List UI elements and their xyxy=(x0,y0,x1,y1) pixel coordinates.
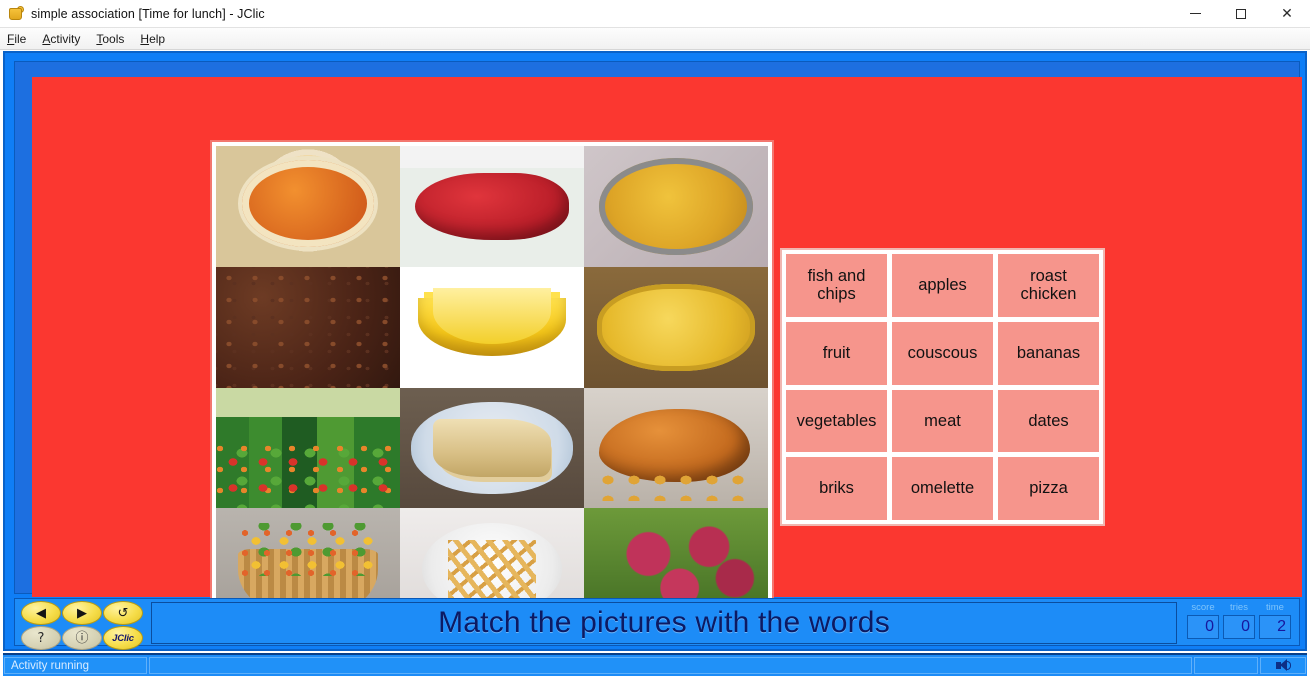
couscous-image[interactable] xyxy=(584,146,768,267)
activity-board: fish and chipsapplesroast chickenfruitco… xyxy=(32,77,1302,597)
status-extra-panel xyxy=(1194,657,1258,674)
word-cell[interactable]: omelette xyxy=(892,457,993,520)
time-value: 2 xyxy=(1277,618,1286,636)
word-cell[interactable]: apples xyxy=(892,254,993,317)
menu-item-activity[interactable]: Activity xyxy=(42,30,90,48)
vegetables-image[interactable] xyxy=(216,388,400,509)
score-counter: 0 xyxy=(1187,615,1219,639)
jclic-application-window: simple association [Time for lunch] - JC… xyxy=(0,0,1310,676)
word-cell[interactable]: pizza xyxy=(998,457,1099,520)
word-cell[interactable]: bananas xyxy=(998,322,1099,385)
time-counter: 2 xyxy=(1259,615,1291,639)
word-cell[interactable]: meat xyxy=(892,390,993,453)
info-button[interactable]: ⓘ xyxy=(62,626,102,650)
dates-image[interactable] xyxy=(216,267,400,388)
omelette-image-thumb xyxy=(584,267,768,388)
word-cell[interactable]: fruit xyxy=(786,322,887,385)
help-button[interactable]: ? xyxy=(21,626,61,650)
menu-file-label: ile xyxy=(14,32,26,46)
menu-bar: File Activity Tools Help xyxy=(0,28,1310,50)
menu-help-mnemonic: H xyxy=(140,32,149,46)
status-bar: Activity running xyxy=(3,653,1307,676)
word-cell[interactable]: couscous xyxy=(892,322,993,385)
pizza-image[interactable] xyxy=(216,146,400,267)
menu-item-file[interactable]: File xyxy=(7,30,36,48)
activity-area: fish and chipsapplesroast chickenfruitco… xyxy=(14,61,1300,594)
player-control-bar: ◀ ▶ ↺ ? ⓘ JClic Match the pictures with … xyxy=(14,598,1300,646)
word-cell[interactable]: fish and chips xyxy=(786,254,887,317)
previous-activity-button[interactable]: ◀ xyxy=(21,601,61,625)
briks-image[interactable] xyxy=(400,388,584,509)
meat-image-thumb xyxy=(400,146,584,267)
tries-counter: 0 xyxy=(1223,615,1255,639)
word-cell[interactable]: dates xyxy=(998,390,1099,453)
tries-label: tries xyxy=(1223,602,1255,613)
menu-activity-label: ctivity xyxy=(50,32,80,46)
close-button[interactable]: ✕ xyxy=(1264,0,1310,28)
window-title: simple association [Time for lunch] - JC… xyxy=(31,7,265,21)
jclic-puzzle-icon xyxy=(7,5,25,23)
activity-message: Match the pictures with the words xyxy=(438,606,890,640)
counters-panel: score 0 tries 0 time 2 xyxy=(1185,601,1297,645)
bananas-image-thumb xyxy=(400,267,584,388)
menu-item-tools[interactable]: Tools xyxy=(96,30,134,48)
previous-icon: ◀ xyxy=(36,607,46,620)
reset-icon: ↺ xyxy=(118,607,129,620)
volume-button[interactable] xyxy=(1260,657,1306,674)
word-cell[interactable]: roast chicken xyxy=(998,254,1099,317)
minimize-button[interactable] xyxy=(1172,0,1218,28)
menu-item-help[interactable]: Help xyxy=(140,30,175,48)
title-bar: simple association [Time for lunch] - JC… xyxy=(0,0,1310,28)
pizza-image-thumb xyxy=(216,146,400,267)
words-grid: fish and chipsapplesroast chickenfruitco… xyxy=(786,254,1099,520)
menu-tools-label: ools xyxy=(102,32,124,46)
omelette-image[interactable] xyxy=(584,267,768,388)
navigation-buttons: ◀ ▶ ↺ ? ⓘ JClic xyxy=(19,601,145,646)
meat-image[interactable] xyxy=(400,146,584,267)
reset-activity-button[interactable]: ↺ xyxy=(103,601,143,625)
window-controls: ✕ xyxy=(1172,0,1310,28)
activity-message-box: Match the pictures with the words xyxy=(151,602,1177,644)
bananas-image[interactable] xyxy=(400,267,584,388)
maximize-button[interactable] xyxy=(1218,0,1264,28)
roast-chicken-image-thumb xyxy=(584,388,768,509)
jclic-player-frame: fish and chipsapplesroast chickenfruitco… xyxy=(3,51,1307,651)
status-message: Activity running xyxy=(11,660,89,672)
next-activity-button[interactable]: ▶ xyxy=(62,601,102,625)
pictures-panel xyxy=(210,140,774,635)
next-icon: ▶ xyxy=(77,607,87,620)
word-cell[interactable]: vegetables xyxy=(786,390,887,453)
time-label: time xyxy=(1259,602,1291,613)
words-panel: fish and chipsapplesroast chickenfruitco… xyxy=(780,248,1105,526)
roast-chicken-image[interactable] xyxy=(584,388,768,509)
speaker-icon xyxy=(1276,659,1291,672)
jclic-logo-text: JClic xyxy=(112,633,134,644)
info-icon: ⓘ xyxy=(75,632,88,645)
score-label: score xyxy=(1187,602,1219,613)
word-cell[interactable]: briks xyxy=(786,457,887,520)
jclic-logo-button[interactable]: JClic xyxy=(103,626,143,650)
vegetables-image-thumb xyxy=(216,388,400,509)
question-mark-icon: ? xyxy=(38,632,45,645)
couscous-image-thumb xyxy=(584,146,768,267)
close-icon: ✕ xyxy=(1281,7,1293,21)
score-value: 0 xyxy=(1205,618,1214,636)
status-message-panel: Activity running xyxy=(4,657,147,674)
pictures-grid xyxy=(216,146,768,629)
dates-image-thumb xyxy=(216,267,400,388)
briks-image-thumb xyxy=(400,388,584,509)
menu-help-label: elp xyxy=(149,32,165,46)
status-progress-panel xyxy=(149,657,1192,674)
tries-value: 0 xyxy=(1241,618,1250,636)
